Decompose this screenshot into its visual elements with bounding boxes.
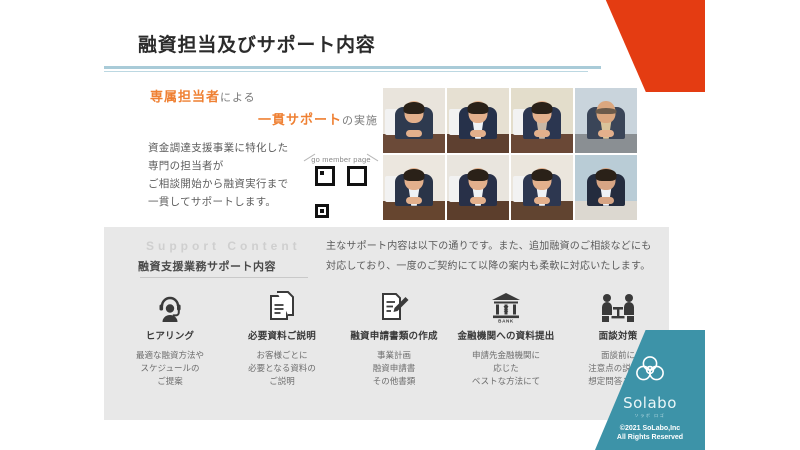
subtitle-highlight-1: 専属担当者: [150, 89, 220, 104]
slide-root: 融資担当及びサポート内容 専属担当者による 一貫サポートの実施 資金調達支援事業…: [0, 0, 800, 450]
body-line: 一貫してサポートします。: [148, 193, 288, 211]
service-item-title: 金融機関への資料提出: [450, 328, 562, 342]
desc-line: 事業計画: [338, 349, 450, 362]
body-line: 資金調達支援事業に特化した: [148, 139, 288, 157]
support-eyebrow: Support Content: [146, 239, 301, 253]
qr-code-block[interactable]: go member page: [305, 155, 377, 218]
service-item-title: 必要資料ご説明: [226, 328, 338, 342]
service-item-title: 融資申請書類の作成: [338, 328, 450, 342]
svg-text:BANK: BANK: [498, 319, 514, 324]
staff-photo: [447, 155, 509, 220]
subtitle: 専属担当者による 一貫サポートの実施: [150, 86, 380, 132]
desc-line: 最適な融資方法や: [114, 349, 226, 362]
service-item-title: ヒアリング: [114, 328, 226, 342]
qr-eye-dot-icon: [320, 209, 324, 213]
bank-icon: ¥ BANK: [450, 289, 562, 323]
service-items-list: ヒアリング 最適な融資方法や スケジュールの ご提案: [114, 289, 674, 388]
documents-icon: [226, 289, 338, 323]
body-text: 資金調達支援事業に特化した 専門の担当者が ご相談開始から融資実行まで 一貫して…: [148, 139, 288, 211]
staff-photo: [383, 88, 445, 153]
interview-icon: [562, 289, 674, 323]
service-item-hearing[interactable]: ヒアリング 最適な融資方法や スケジュールの ご提案: [114, 289, 226, 388]
staff-photo: [383, 155, 445, 220]
desc-line: ベストな方法にて: [450, 375, 562, 388]
qr-code-image[interactable]: [315, 166, 367, 218]
staff-photo-grid: [383, 88, 637, 220]
service-item-desc: 事業計画 融資申請書 その他書類: [338, 349, 450, 388]
copyright-text: ©2021 SoLabo,Inc All Rights Reserved: [601, 424, 699, 442]
service-item-documents[interactable]: 必要資料ご説明 お客様ごとに 必要となる資料の ご説明: [226, 289, 338, 388]
copyright-line: ©2021 SoLabo,Inc: [601, 424, 699, 433]
logo-wordmark: Solabo: [601, 394, 699, 412]
title-divider-thin: [104, 71, 588, 72]
body-line: ご相談開始から融資実行まで: [148, 175, 288, 193]
staff-photo: [511, 88, 573, 153]
service-item-bank-submission[interactable]: ¥ BANK 金融機関への資料提出 申請先金融機関に 応じた ベストな方法にて: [450, 289, 562, 388]
desc-line: 応じた: [450, 362, 562, 375]
staff-photo: [511, 155, 573, 220]
desc-line: 融資申請書: [338, 362, 450, 375]
support-heading: 融資支援業務サポート内容: [138, 258, 276, 274]
subtitle-highlight-2: 一貫サポート: [258, 112, 342, 127]
qr-eye-dot-icon: [320, 171, 324, 175]
title-divider-thick: [104, 66, 601, 69]
body-line: 専門の担当者が: [148, 157, 288, 175]
support-description: 主なサポート内容は以下の通りです。また、追加融資のご相談などにも 対応しており、…: [326, 237, 651, 277]
staff-photo: [575, 88, 637, 153]
qr-label: go member page: [305, 155, 377, 164]
support-description-line: 対応しており、一度のご契約にて以降の案内も柔軟に対応いたします。: [326, 257, 651, 277]
orange-corner-decoration: [545, 0, 705, 92]
service-item-desc: 最適な融資方法や スケジュールの ご提案: [114, 349, 226, 388]
service-item-desc: お客様ごとに 必要となる資料の ご説明: [226, 349, 338, 388]
slide-canvas: 融資担当及びサポート内容 専属担当者による 一貫サポートの実施 資金調達支援事業…: [0, 0, 705, 450]
qr-eye-dot-icon: [358, 171, 362, 175]
svg-text:¥: ¥: [503, 305, 508, 315]
desc-line: ご提案: [114, 375, 226, 388]
solabo-flower-logo-icon: [601, 353, 699, 392]
subtitle-rest-2: の実施: [342, 115, 378, 127]
desc-line: お客様ごとに: [226, 349, 338, 362]
service-item-application[interactable]: 融資申請書類の作成 事業計画 融資申請書 その他書類: [338, 289, 450, 388]
desc-line: スケジュールの: [114, 362, 226, 375]
document-pencil-icon: [338, 289, 450, 323]
company-logo-block: Solabo ソラボ ロゴ ©2021 SoLabo,Inc All Right…: [601, 353, 699, 442]
page-title: 融資担当及びサポート内容: [138, 30, 376, 57]
copyright-line: All Rights Reserved: [601, 433, 699, 442]
staff-photo: [575, 155, 637, 220]
desc-line: 申請先金融機関に: [450, 349, 562, 362]
subtitle-rest-1: による: [220, 92, 256, 104]
support-description-line: 主なサポート内容は以下の通りです。また、追加融資のご相談などにも: [326, 237, 651, 257]
service-item-desc: 申請先金融機関に 応じた ベストな方法にて: [450, 349, 562, 388]
support-content-panel: Support Content 融資支援業務サポート内容 主なサポート内容は以下…: [104, 227, 669, 420]
support-divider: [140, 277, 308, 278]
staff-photo: [447, 88, 509, 153]
logo-tagline: ソラボ ロゴ: [601, 413, 699, 419]
headset-person-icon: [114, 289, 226, 323]
desc-line: 必要となる資料の: [226, 362, 338, 375]
desc-line: その他書類: [338, 375, 450, 388]
desc-line: ご説明: [226, 375, 338, 388]
